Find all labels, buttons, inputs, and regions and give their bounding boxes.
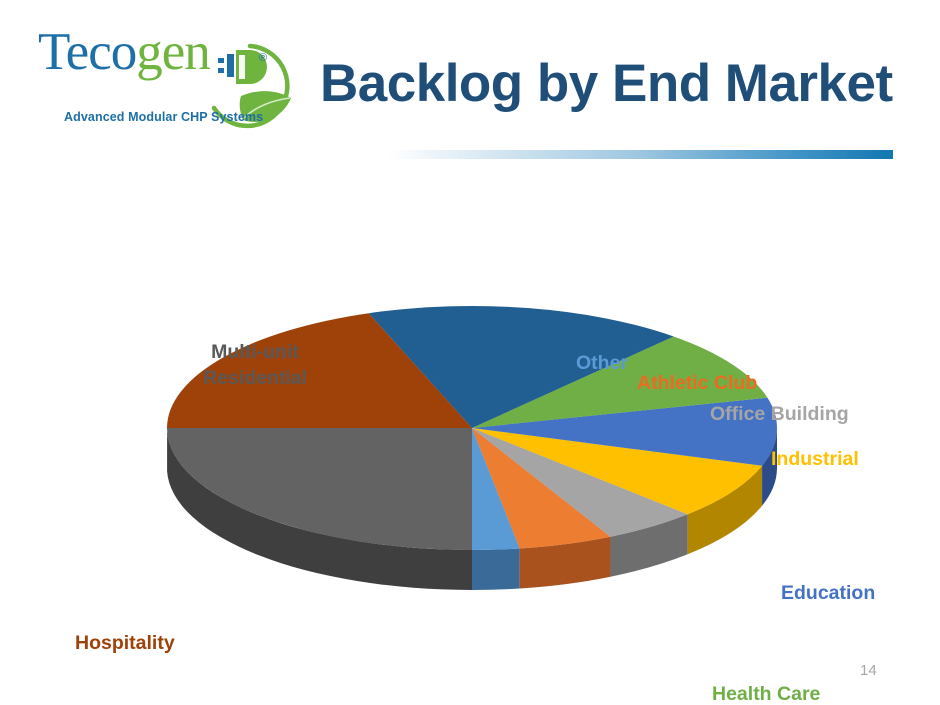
slide-canvas: Tecogen ® Advanced Modular CHP Systems B… [0, 0, 940, 705]
pie-label-industrial: Industrial [771, 447, 859, 473]
logo-wordmark-teco: Teco [38, 23, 136, 81]
logo-wordmark: Tecogen [38, 26, 210, 79]
pie-label-other: Other [576, 351, 628, 377]
pie-label-health-care: Health Care [712, 682, 820, 705]
tecogen-logo: Tecogen ® Advanced Modular CHP Systems [36, 24, 306, 136]
pie-rim-other [472, 548, 520, 590]
page-number: 14 [860, 662, 877, 679]
pie-label-education: Education [781, 581, 875, 607]
pie-chart: Multi-unit Residential Other Athletic Cl… [0, 160, 940, 640]
pie-label-hospitality: Hospitality [75, 631, 175, 657]
pie-label-multi-unit-residential: Multi-unit Residential [190, 340, 320, 391]
pie-chart-graphic [150, 195, 790, 615]
logo-tagline: Advanced Modular CHP Systems [64, 110, 263, 124]
logo-wordmark-gen: gen [136, 23, 210, 81]
pie-label-residential-line1: Multi-unit [211, 341, 299, 363]
title-underline-rule [388, 150, 893, 159]
registered-trademark-icon: ® [259, 52, 267, 64]
page-title: Backlog by End Market [320, 56, 890, 112]
pie-label-office-building: Office Building [710, 402, 849, 428]
pie-label-residential-line2: Residential [203, 367, 307, 389]
pie-label-athletic-club: Athletic Club [637, 371, 757, 397]
